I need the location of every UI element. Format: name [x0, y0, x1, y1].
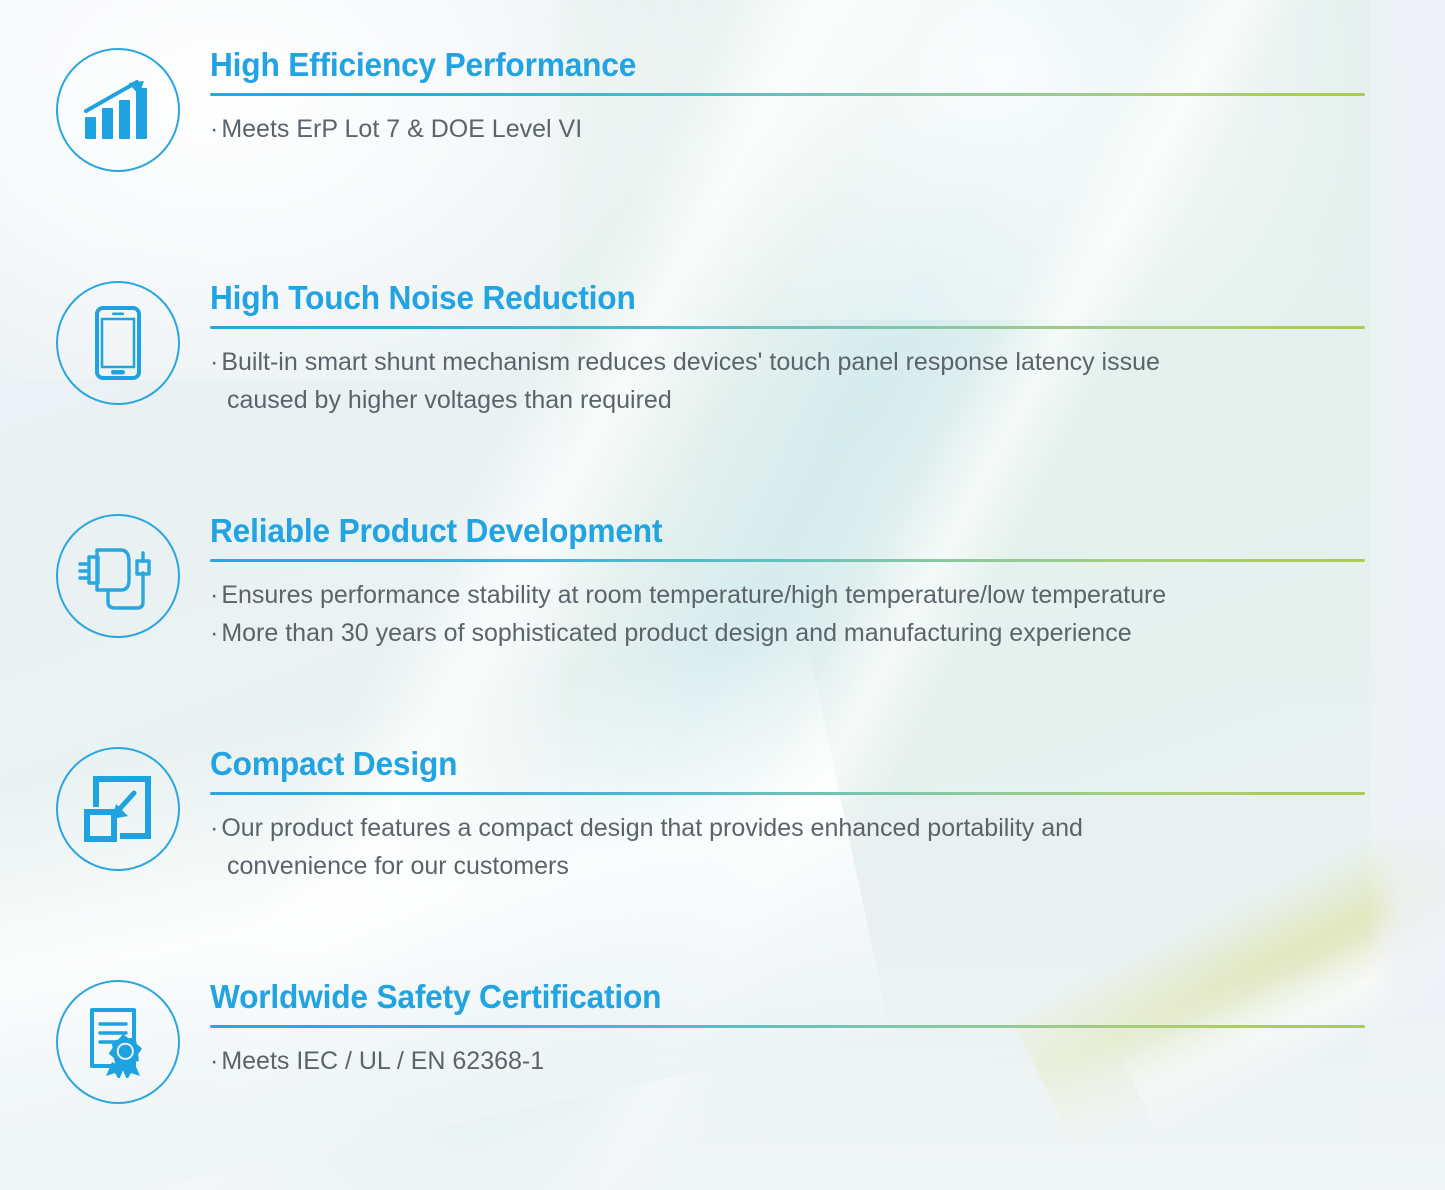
- bullet-marker: ·: [210, 348, 218, 376]
- feature-title: Compact Design: [210, 747, 1324, 782]
- feature-bullets: ·Meets IEC / UL / EN 62368-1: [210, 1042, 1370, 1080]
- feature-icon-wrap: [56, 48, 180, 172]
- feature-divider: [210, 326, 1365, 329]
- bullet-text: Ensures performance stability at room te…: [221, 581, 1166, 609]
- bullet-marker: ·: [210, 115, 218, 143]
- feature-divider: [210, 559, 1365, 562]
- compact-resize-icon: [56, 747, 180, 871]
- bullet-text: More than 30 years of sophisticated prod…: [221, 619, 1131, 647]
- power-adapter-icon: [56, 514, 180, 638]
- feature-bullet: ·Built-in smart shunt mechanism reduces …: [210, 343, 1370, 419]
- smartphone-icon: [56, 281, 180, 405]
- feature-bullet: ·Meets IEC / UL / EN 62368-1: [210, 1042, 1370, 1080]
- bullet-marker: ·: [210, 619, 218, 647]
- feature-icon-wrap: [56, 514, 180, 638]
- bullet-text: Meets ErP Lot 7 & DOE Level VI: [221, 115, 582, 143]
- bullet-marker: ·: [210, 581, 218, 609]
- feature-divider: [210, 93, 1365, 96]
- bullet-marker: ·: [210, 1047, 218, 1075]
- feature-bullet: ·Our product features a compact design t…: [210, 809, 1370, 885]
- feature-body: Compact Design ·Our product features a c…: [210, 747, 1370, 885]
- feature-divider: [210, 792, 1365, 795]
- feature-icon-wrap: [56, 980, 180, 1104]
- feature-bullets: ·Ensures performance stability at room t…: [210, 576, 1370, 652]
- feature-body: High Touch Noise Reduction ·Built-in sma…: [210, 281, 1370, 419]
- feature-bullets: ·Built-in smart shunt mechanism reduces …: [210, 343, 1370, 419]
- feature-title: Reliable Product Development: [210, 514, 1324, 549]
- feature-highlights-page: High Efficiency Performance ·Meets ErP L…: [0, 0, 1445, 1190]
- feature-bullet: ·Meets ErP Lot 7 & DOE Level VI: [210, 110, 1370, 148]
- feature-icon-wrap: [56, 281, 180, 405]
- feature-bullets: ·Meets ErP Lot 7 & DOE Level VI: [210, 110, 1370, 148]
- bullet-marker: ·: [210, 814, 218, 842]
- feature-title: High Touch Noise Reduction: [210, 281, 1324, 316]
- bar-chart-growth-icon: [56, 48, 180, 172]
- feature-bullet: ·Ensures performance stability at room t…: [210, 576, 1370, 614]
- bullet-text-continued: caused by higher voltages than required: [210, 381, 1370, 419]
- background-right-edge-strip: [1367, 0, 1445, 1190]
- feature-body: High Efficiency Performance ·Meets ErP L…: [210, 48, 1370, 148]
- background-diagonal-sweep-bottom-left: [0, 620, 890, 1190]
- feature-bullet: ·More than 30 years of sophisticated pro…: [210, 614, 1370, 652]
- bullet-text: Meets IEC / UL / EN 62368-1: [221, 1047, 544, 1075]
- feature-bullets: ·Our product features a compact design t…: [210, 809, 1370, 885]
- bullet-text-continued: convenience for our customers: [210, 847, 1370, 885]
- feature-icon-wrap: [56, 747, 180, 871]
- certificate-seal-icon: [56, 980, 180, 1104]
- feature-body: Reliable Product Development ·Ensures pe…: [210, 514, 1370, 652]
- feature-body: Worldwide Safety Certification ·Meets IE…: [210, 980, 1370, 1080]
- feature-title: High Efficiency Performance: [210, 48, 1324, 83]
- bullet-text: Our product features a compact design th…: [221, 814, 1083, 842]
- feature-title: Worldwide Safety Certification: [210, 980, 1324, 1015]
- bullet-text: Built-in smart shunt mechanism reduces d…: [221, 348, 1160, 376]
- feature-divider: [210, 1025, 1365, 1028]
